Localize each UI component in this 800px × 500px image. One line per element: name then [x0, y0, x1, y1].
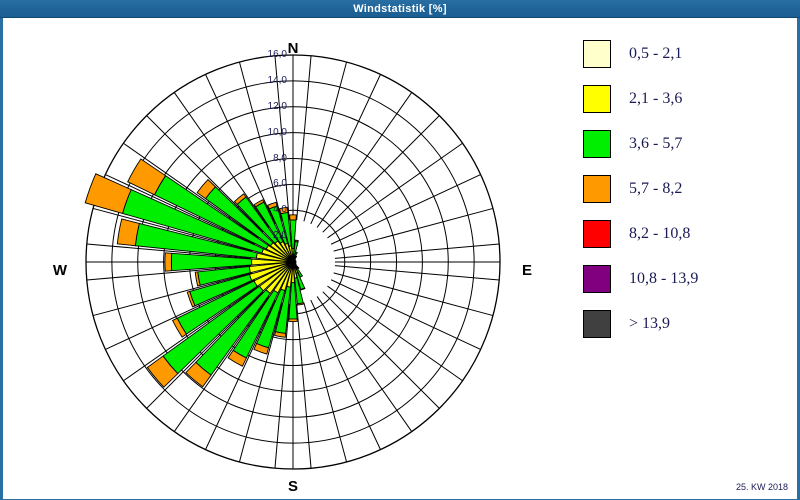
- radial-tick-label: 14,0: [253, 75, 287, 86]
- grid-spoke: [311, 74, 381, 224]
- legend-swatch: [583, 85, 611, 113]
- center-dot: [290, 259, 297, 266]
- grid-spoke: [327, 143, 462, 238]
- legend-swatch: [583, 265, 611, 293]
- wind-rose-svg: [0, 18, 560, 500]
- wind-rose-petal-segment: [165, 253, 172, 271]
- radial-tick-label: 4,0: [253, 204, 287, 215]
- grid-spoke: [331, 280, 481, 350]
- wind-rose-petal-segment: [117, 219, 139, 246]
- legend-item[interactable]: > 13,9: [583, 308, 793, 339]
- window-title: Windstatistik [%]: [353, 3, 447, 15]
- radial-tick-label: 16,0: [253, 49, 287, 60]
- wind-rose-petal-segment: [290, 215, 297, 220]
- legend-item[interactable]: 2,1 - 3,6: [583, 83, 793, 114]
- legend-label: 10,8 - 13,9: [629, 270, 698, 288]
- legend-swatch: [583, 130, 611, 158]
- wind-rose-petal-segment: [289, 319, 298, 322]
- legend-item[interactable]: 10,8 - 13,9: [583, 263, 793, 294]
- grid-spoke: [317, 92, 412, 227]
- legend-label: 0,5 - 2,1: [629, 45, 682, 63]
- radial-tick-label: 10,0: [253, 127, 287, 138]
- legend-item[interactable]: 0,5 - 2,1: [583, 38, 793, 69]
- grid-spoke: [323, 116, 440, 233]
- legend-label: 8,2 - 10,8: [629, 225, 690, 243]
- compass-label-east: E: [512, 262, 542, 279]
- wind-rose-petal-segment: [85, 174, 131, 214]
- plot-center-hub: [290, 259, 297, 266]
- grid-spoke: [297, 304, 311, 468]
- grid-spoke: [323, 292, 440, 409]
- compass-label-west: W: [45, 262, 75, 279]
- wind-rose-plot: N E S W 16,014,012,010,08,06,04,02,0: [0, 18, 560, 500]
- legend-label: 5,7 - 8,2: [629, 180, 682, 198]
- footer-week-label: 25. KW 2018: [736, 482, 788, 492]
- legend: 0,5 - 2,12,1 - 3,63,6 - 5,75,7 - 8,28,2 …: [583, 38, 793, 353]
- legend-swatch: [583, 220, 611, 248]
- grid-spoke: [331, 175, 481, 245]
- wind-rose-petal-segment: [295, 240, 298, 242]
- legend-swatch: [583, 175, 611, 203]
- legend-label: 3,6 - 5,7: [629, 135, 682, 153]
- wind-rose-window: Windstatistik [%] N E S W 16,014,012,010…: [0, 0, 800, 500]
- grid-spoke: [327, 286, 462, 381]
- legend-item[interactable]: 5,7 - 8,2: [583, 173, 793, 204]
- window-titlebar: Windstatistik [%]: [0, 0, 800, 18]
- grid-spoke: [317, 296, 412, 431]
- grid-spoke: [335, 266, 499, 280]
- grid-spoke: [335, 244, 499, 258]
- compass-label-south: S: [278, 478, 308, 495]
- radial-tick-label: 8,0: [253, 153, 287, 164]
- legend-item[interactable]: 8,2 - 10,8: [583, 218, 793, 249]
- legend-label: > 13,9: [629, 315, 670, 333]
- legend-item[interactable]: 3,6 - 5,7: [583, 128, 793, 159]
- legend-label: 2,1 - 3,6: [629, 90, 682, 108]
- legend-swatch: [583, 40, 611, 68]
- radial-tick-label: 12,0: [253, 101, 287, 112]
- grid-spoke: [311, 300, 381, 450]
- radial-tick-label: 2,0: [253, 230, 287, 241]
- legend-swatch: [583, 310, 611, 338]
- radial-tick-label: 6,0: [253, 178, 287, 189]
- grid-spoke: [297, 56, 311, 220]
